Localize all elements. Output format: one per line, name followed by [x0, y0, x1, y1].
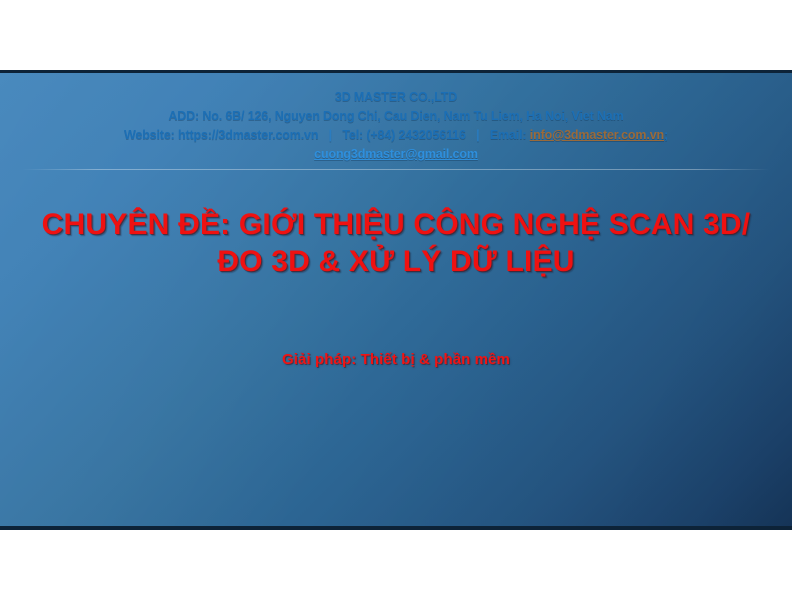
website-label: Website: — [124, 128, 175, 142]
tel-value: (+84) 2432056116 — [366, 128, 465, 142]
contact-header-block: 3D MASTER CO.,LTD ADD: No. 6B/ 126, Nguy… — [0, 88, 792, 164]
website-value[interactable]: https://3dmaster.com.vn — [178, 128, 318, 142]
tel-label: Tel: — [342, 128, 363, 142]
slide-subtitle: Giải pháp: Thiết bị & phần mềm — [0, 351, 792, 369]
contact-line-email-secondary: cuong3dmaster@gmail.com — [0, 145, 792, 164]
slide-title-line-1: CHUYÊN ĐỀ: GIỚI THIỆU CÔNG NGHỆ SCAN 3D/ — [0, 206, 792, 243]
separator-2: | — [469, 128, 486, 142]
email-label: Email: — [490, 128, 527, 142]
company-address: ADD: No. 6B/ 126, Nguyen Dong Chi, Cau D… — [0, 107, 792, 126]
presentation-slide: 3D MASTER CO.,LTD ADD: No. 6B/ 126, Nguy… — [0, 70, 792, 530]
email-secondary-link[interactable]: cuong3dmaster@gmail.com — [314, 147, 478, 161]
slide-subtitle-text: Giải pháp: Thiết bị & phần mềm — [282, 351, 510, 368]
slide-title-line-2: ĐO 3D & XỬ LÝ DỮ LIỆU — [0, 243, 792, 280]
slide-title: CHUYÊN ĐỀ: GIỚI THIỆU CÔNG NGHỆ SCAN 3D/… — [0, 206, 792, 280]
email-primary-tail: ; — [664, 128, 668, 142]
company-name: 3D MASTER CO.,LTD — [0, 88, 792, 107]
header-divider — [22, 169, 770, 170]
contact-line-website-tel-email: Website: https://3dmaster.com.vn | Tel: … — [0, 126, 792, 145]
email-primary-link[interactable]: info@3dmaster.com.vn — [530, 128, 664, 142]
separator-1: | — [322, 128, 339, 142]
